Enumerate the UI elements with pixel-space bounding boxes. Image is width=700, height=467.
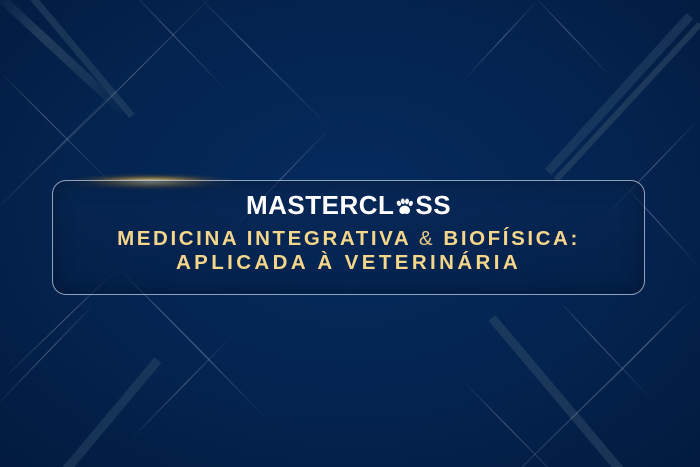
paw-print-icon	[394, 192, 415, 218]
ampersand: &	[419, 227, 435, 250]
title-panel: MASTERCL SS MEDICINA INTEGRATIVA & BIOFÍ…	[52, 180, 645, 295]
masterclass-text-part1: MASTERCL	[246, 192, 394, 218]
masterclass-wordmark: MASTERCL SS	[246, 192, 451, 218]
banner-canvas: MASTERCL SS MEDICINA INTEGRATIVA & BIOFÍ…	[0, 0, 700, 467]
course-title-line2: APLICADA À VETERINÁRIA	[117, 251, 580, 275]
masterclass-text-part2: SS	[415, 192, 451, 218]
course-title: MEDICINA INTEGRATIVA & BIOFÍSICA: APLICA…	[117, 227, 580, 275]
course-title-line1-a: MEDICINA INTEGRATIVA	[117, 227, 419, 250]
course-title-line1-b: BIOFÍSICA:	[435, 227, 580, 250]
